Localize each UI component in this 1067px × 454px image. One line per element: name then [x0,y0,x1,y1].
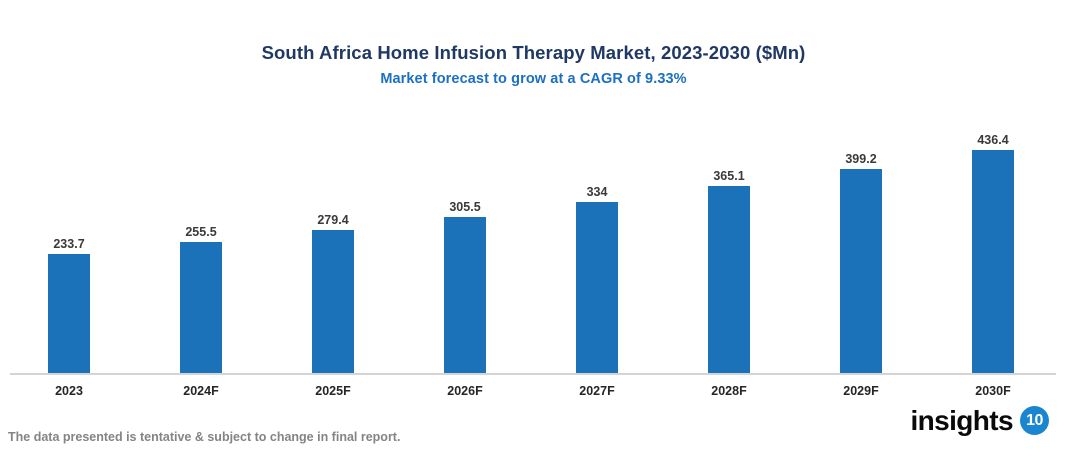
bar-value-label: 255.5 [135,225,267,239]
bar[interactable] [180,242,222,373]
bar[interactable] [708,186,750,373]
bar[interactable] [312,230,354,373]
bar-group: 255.52024F [135,154,267,454]
chart-card: South Africa Home Infusion Therapy Marke… [0,0,1067,454]
bar-group: 399.22029F [795,154,927,454]
x-axis-tick-label: 2025F [267,384,399,398]
bar-group: 365.12028F [663,154,795,454]
bar[interactable] [444,217,486,373]
bar-value-label: 305.5 [399,200,531,214]
x-axis-tick-label: 2029F [795,384,927,398]
bar-group: 305.52026F [399,154,531,454]
bar[interactable] [576,202,618,373]
x-axis-tick-label: 2027F [531,384,663,398]
x-axis-tick-label: 2023 [3,384,135,398]
bar[interactable] [840,169,882,373]
logo-badge-icon: 10 [1020,406,1049,435]
bar-value-label: 233.7 [3,237,135,251]
bar[interactable] [972,150,1014,373]
x-axis-tick-label: 2026F [399,384,531,398]
logo-wordmark: insights [910,407,1013,435]
x-axis-tick-label: 2030F [927,384,1059,398]
bar-value-label: 279.4 [267,213,399,227]
x-axis-tick-label: 2024F [135,384,267,398]
bar[interactable] [48,254,90,373]
bar-value-label: 334 [531,185,663,199]
bar-value-label: 399.2 [795,152,927,166]
insights10-logo: insights 10 [910,406,1049,435]
bar-value-label: 365.1 [663,169,795,183]
x-axis-tick-label: 2028F [663,384,795,398]
bar-chart-plot-area: 233.72023255.52024F279.42025F305.52026F3… [0,0,1067,454]
bar-group: 279.42025F [267,154,399,454]
bar-group: 233.72023 [3,154,135,454]
bar-group: 3342027F [531,154,663,454]
bar-value-label: 436.4 [927,133,1059,147]
disclaimer-text: The data presented is tentative & subjec… [8,430,400,444]
